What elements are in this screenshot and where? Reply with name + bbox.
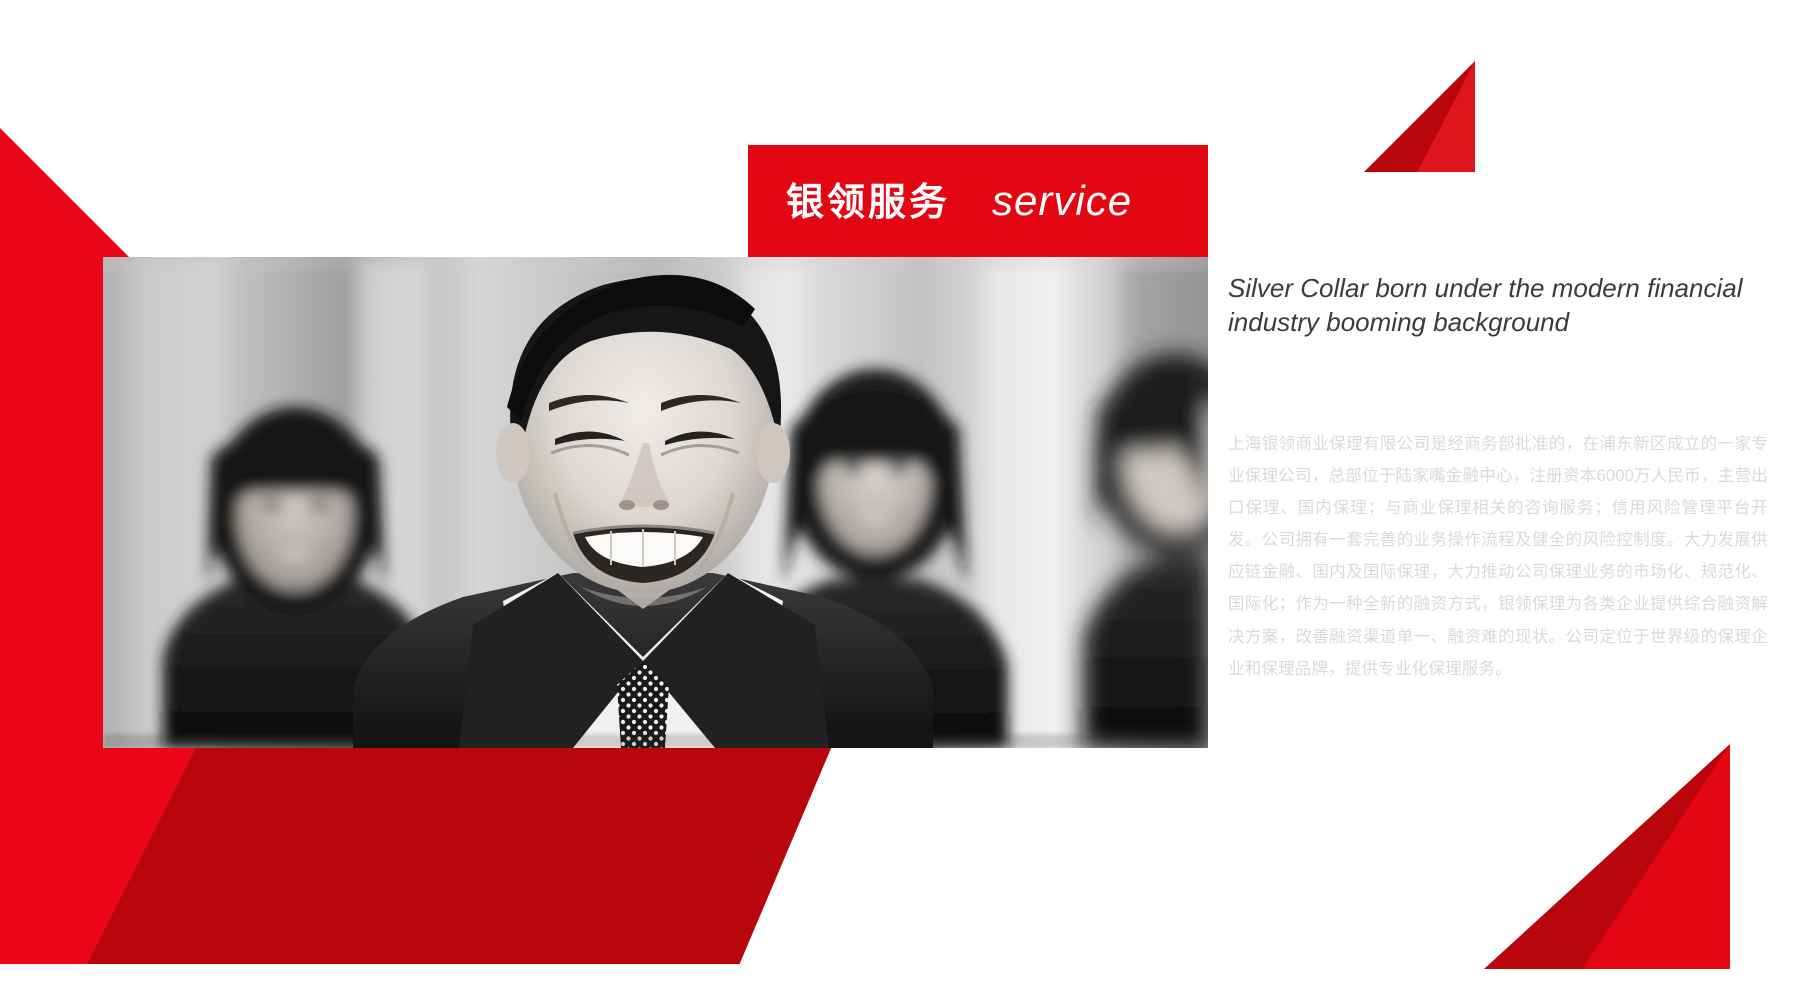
red-triangle-top-right-dark-decor: [1364, 61, 1475, 172]
title-banner-content: 银领服务 service: [748, 180, 1132, 222]
red-triangle-top-right-bright-decor: [1364, 61, 1475, 172]
title-english: service: [992, 180, 1132, 222]
english-headline: Silver Collar born under the modern fina…: [1228, 272, 1768, 340]
team-photo: [103, 257, 1208, 748]
slide-canvas: 银领服务 service: [0, 0, 1801, 1004]
title-banner: 银领服务 service: [748, 145, 1208, 257]
title-chinese: 银领服务: [786, 184, 950, 222]
red-triangle-bottom-right-bright-decor: [1484, 744, 1730, 969]
red-triangle-bottom-right-dark-decor: [1484, 744, 1730, 969]
text-column: Silver Collar born under the modern fina…: [1228, 272, 1768, 685]
company-description-paragraph: 上海银领商业保理有限公司是经商务部批准的，在浦东新区成立的一家专业保理公司，总部…: [1228, 428, 1768, 685]
